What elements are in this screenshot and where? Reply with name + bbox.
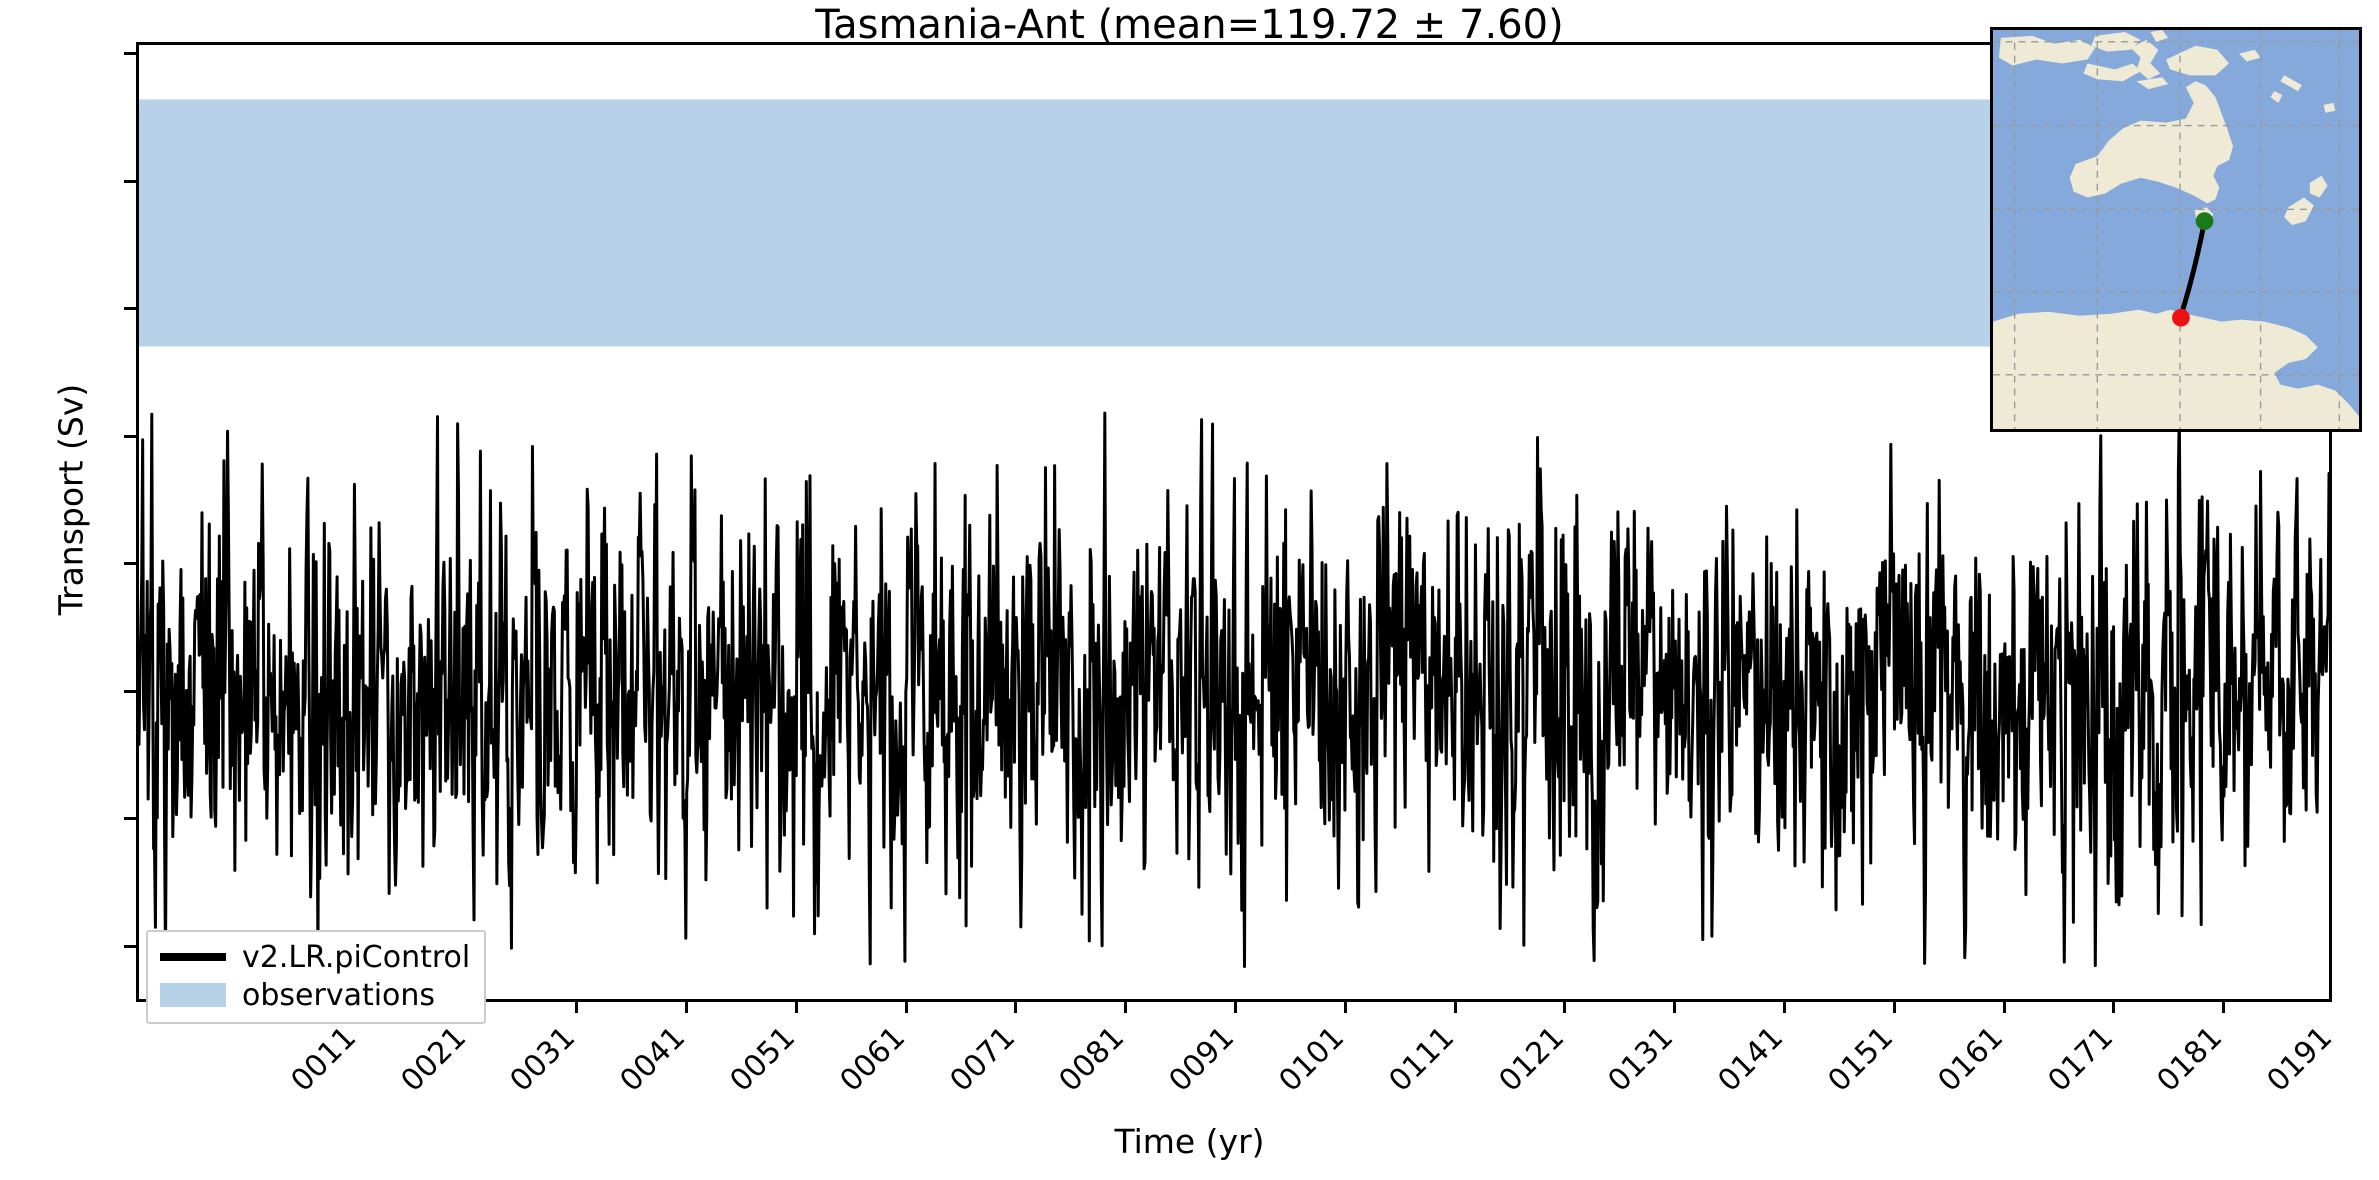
x-tick-mark (1014, 1002, 1017, 1013)
x-tick-label: 0171 (2041, 1020, 2120, 1099)
y-tick-mark (124, 180, 136, 183)
x-tick-mark (905, 1002, 908, 1013)
x-tick-label: 0041 (614, 1020, 693, 1099)
x-tick-mark (575, 1002, 578, 1013)
x-tick-label: 0151 (1821, 1020, 1900, 1099)
south-endpoint-marker[interactable] (2172, 309, 2190, 327)
x-tick-label: 0131 (1602, 1020, 1681, 1099)
x-tick-mark (1783, 1002, 1786, 1013)
x-tick-label: 0031 (504, 1020, 583, 1099)
y-axis-label: Transport (Sv) (52, 20, 91, 980)
y-tick-mark (124, 690, 136, 693)
y-tick-mark (124, 817, 136, 820)
x-tick-label: 0191 (2261, 1020, 2340, 1099)
legend-item-observations[interactable]: observations (160, 976, 470, 1014)
x-tick-mark (795, 1002, 798, 1013)
x-tick-label: 0021 (394, 1020, 473, 1099)
x-tick-label: 0121 (1492, 1020, 1571, 1099)
legend-patch-swatch-icon (160, 983, 226, 1007)
x-tick-mark (1893, 1002, 1896, 1013)
y-tick-mark (124, 307, 136, 310)
x-tick-mark (1563, 1002, 1566, 1013)
x-tick-label: 0161 (1931, 1020, 2010, 1099)
x-tick-label: 0081 (1053, 1020, 1132, 1099)
timeseries-line (139, 413, 2329, 966)
figure-canvas: Tasmania-Ant (mean=119.72 ± 7.60) Transp… (0, 0, 2379, 1180)
y-tick-mark (124, 562, 136, 565)
legend[interactable]: v2.LR.piControl observations (146, 930, 486, 1024)
inset-map-svg (1993, 30, 2359, 429)
y-tick-mark (124, 435, 136, 438)
legend-label-model: v2.LR.piControl (242, 940, 470, 975)
x-tick-mark (1344, 1002, 1347, 1013)
series-path-v2.LR.piControl (139, 413, 2329, 966)
legend-line-swatch-icon (160, 953, 226, 961)
x-tick-label: 0181 (2151, 1020, 2230, 1099)
x-tick-label: 0101 (1272, 1020, 1351, 1099)
x-tick-label: 0051 (723, 1020, 802, 1099)
y-tick-mark (124, 945, 136, 948)
legend-item-model[interactable]: v2.LR.piControl (160, 938, 470, 976)
x-axis-label: Time (yr) (0, 1122, 2379, 1161)
x-tick-mark (2003, 1002, 2006, 1013)
y-tick-mark (124, 52, 136, 55)
x-tick-label: 0071 (943, 1020, 1022, 1099)
x-tick-label: 0111 (1382, 1020, 1461, 1099)
legend-label-observations: observations (242, 978, 435, 1013)
x-tick-mark (1454, 1002, 1457, 1013)
x-tick-label: 0141 (1712, 1020, 1791, 1099)
north-endpoint-marker[interactable] (2196, 212, 2214, 230)
x-tick-mark (2222, 1002, 2225, 1013)
x-tick-label: 0011 (284, 1020, 363, 1099)
x-tick-label: 0091 (1163, 1020, 1242, 1099)
x-tick-mark (1124, 1002, 1127, 1013)
x-tick-mark (685, 1002, 688, 1013)
x-tick-mark (2112, 1002, 2115, 1013)
transect-location-map[interactable] (1990, 27, 2362, 432)
x-tick-mark (1234, 1002, 1237, 1013)
x-tick-mark (1673, 1002, 1676, 1013)
x-tick-label: 0061 (833, 1020, 912, 1099)
